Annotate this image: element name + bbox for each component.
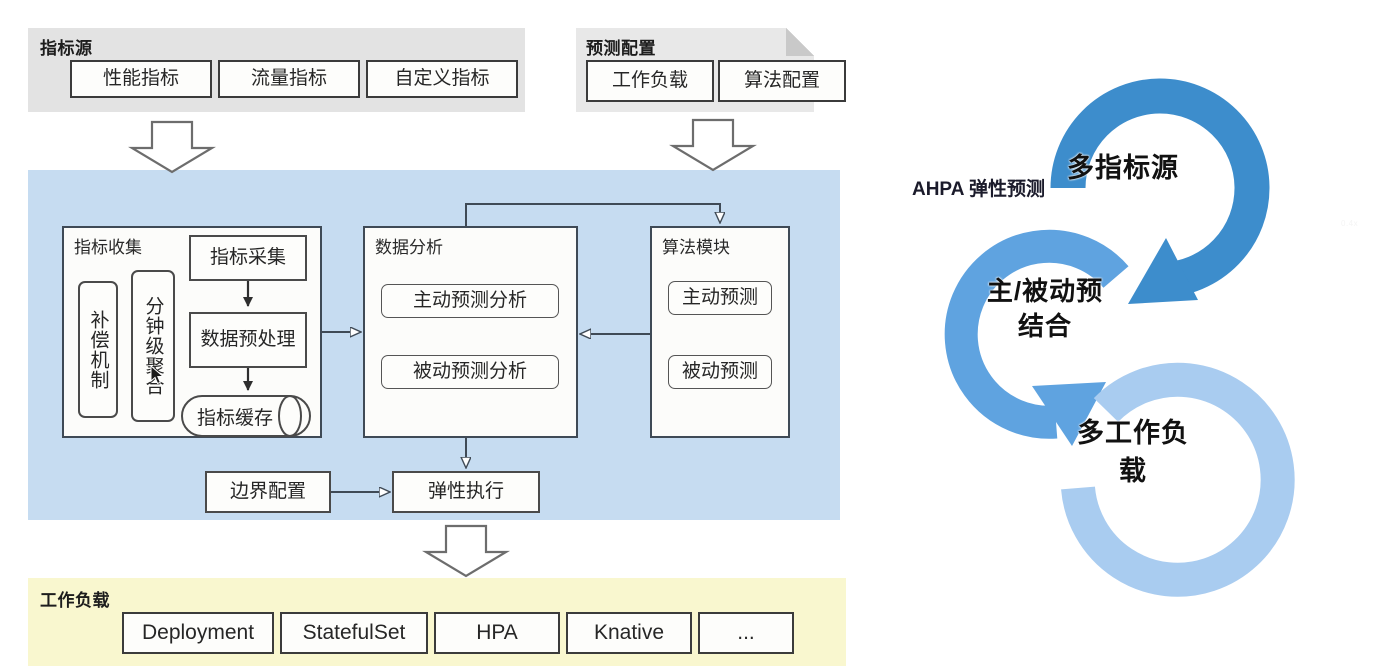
data-preprocess-node[interactable]: 数据预处理 bbox=[189, 312, 307, 368]
metric-source-item-label: 自定义指标 bbox=[394, 68, 489, 90]
passive-prediction-label: 被动预测 bbox=[682, 361, 758, 383]
active-prediction-node[interactable]: 主动预测 bbox=[668, 281, 772, 315]
elastic-exec-node[interactable]: 弹性执行 bbox=[392, 471, 540, 513]
block-arrow-ahpa-to-workload bbox=[426, 526, 506, 576]
metric-collect-label: 指标收集 bbox=[74, 233, 142, 258]
workload-item-more[interactable]: ... bbox=[698, 612, 794, 654]
passive-prediction-node[interactable]: 被动预测 bbox=[668, 355, 772, 389]
elastic-exec-label: 弹性执行 bbox=[428, 481, 504, 503]
boundary-config-node[interactable]: 边界配置 bbox=[205, 471, 331, 513]
cycle-label-line2: 结合 bbox=[940, 311, 1150, 342]
predict-config-title: 预测配置 bbox=[586, 34, 656, 59]
cycle-label-text: 多指标源 bbox=[1067, 153, 1179, 183]
predict-config-group: 预测配置 工作负载 算法配置 bbox=[576, 28, 814, 112]
compensation-mechanism-label: 补偿机制 bbox=[85, 310, 112, 390]
minute-aggregation-label: 分钟级聚合 bbox=[140, 296, 167, 396]
metric-collect-node[interactable]: 指标采集 bbox=[189, 235, 307, 281]
metric-source-item-traffic[interactable]: 流量指标 bbox=[218, 60, 360, 98]
algorithm-module-label: 算法模块 bbox=[662, 233, 730, 258]
passive-prediction-analysis-label: 被动预测分析 bbox=[413, 361, 527, 383]
algorithm-module: 算法模块 bbox=[650, 226, 790, 438]
workload-item-hpa[interactable]: HPA bbox=[434, 612, 560, 654]
predict-config-item-workload[interactable]: 工作负载 bbox=[586, 60, 714, 102]
predict-config-item-label: 算法配置 bbox=[744, 70, 820, 92]
metric-collect-node-label: 指标采集 bbox=[210, 247, 286, 269]
workload-title: 工作负载 bbox=[40, 586, 110, 611]
passive-prediction-analysis-node[interactable]: 被动预测分析 bbox=[381, 355, 559, 389]
workload-item-knative[interactable]: Knative bbox=[566, 612, 692, 654]
boundary-config-label: 边界配置 bbox=[230, 481, 306, 503]
workload-item-label: ... bbox=[737, 621, 755, 645]
workload-group: 工作负载 Deployment StatefulSet HPA Knative … bbox=[28, 578, 846, 666]
data-analysis-module: 数据分析 bbox=[363, 226, 578, 438]
cycle-label-line1: 主/被动预 bbox=[940, 276, 1150, 307]
metric-source-group: 指标源 性能指标 流量指标 自定义指标 bbox=[28, 28, 525, 112]
metric-cache-cylinder[interactable]: 指标缓存 bbox=[180, 394, 312, 438]
workload-item-label: Deployment bbox=[142, 621, 254, 645]
data-analysis-label: 数据分析 bbox=[375, 233, 443, 258]
cycle-label-multi-workload: 多工作负 载 bbox=[1028, 418, 1238, 488]
compensation-mechanism-node[interactable]: 补偿机制 bbox=[78, 281, 118, 418]
metric-source-item-custom[interactable]: 自定义指标 bbox=[366, 60, 518, 98]
metric-cache-label: 指标缓存 bbox=[180, 394, 312, 438]
player-watermark: 0.4x bbox=[1341, 219, 1358, 228]
cycle-label-line1: 多工作负 bbox=[1028, 418, 1238, 450]
cycle-label-active-passive-prediction: 主/被动预 结合 bbox=[940, 276, 1150, 341]
minute-aggregation-node[interactable]: 分钟级聚合 bbox=[131, 270, 175, 422]
workload-item-statefulset[interactable]: StatefulSet bbox=[280, 612, 428, 654]
workload-item-deployment[interactable]: Deployment bbox=[122, 612, 274, 654]
metric-source-item-label: 流量指标 bbox=[251, 68, 327, 90]
metric-source-item-label: 性能指标 bbox=[103, 68, 179, 90]
workload-item-label: HPA bbox=[476, 621, 518, 645]
active-prediction-analysis-node[interactable]: 主动预测分析 bbox=[381, 284, 559, 318]
active-prediction-label: 主动预测 bbox=[682, 287, 758, 309]
folded-corner-icon bbox=[786, 28, 814, 56]
cycle-label-line2: 载 bbox=[1028, 456, 1238, 488]
metric-source-item-performance[interactable]: 性能指标 bbox=[70, 60, 212, 98]
workload-item-label: StatefulSet bbox=[303, 621, 406, 645]
cycle-label-multi-metric-source: 多指标源 bbox=[1018, 153, 1228, 185]
block-arrow-metric-source-to-ahpa bbox=[132, 122, 212, 172]
active-prediction-analysis-label: 主动预测分析 bbox=[413, 290, 527, 312]
predict-config-item-algorithm[interactable]: 算法配置 bbox=[718, 60, 846, 102]
block-arrow-predict-config-to-ahpa bbox=[673, 120, 753, 170]
predict-config-item-label: 工作负载 bbox=[612, 70, 688, 92]
metric-source-title: 指标源 bbox=[40, 34, 93, 59]
cycle-graphic: 多指标源 主/被动预 结合 多工作负 载 bbox=[930, 18, 1350, 658]
data-preprocess-label: 数据预处理 bbox=[200, 329, 295, 351]
workload-item-label: Knative bbox=[594, 621, 664, 645]
